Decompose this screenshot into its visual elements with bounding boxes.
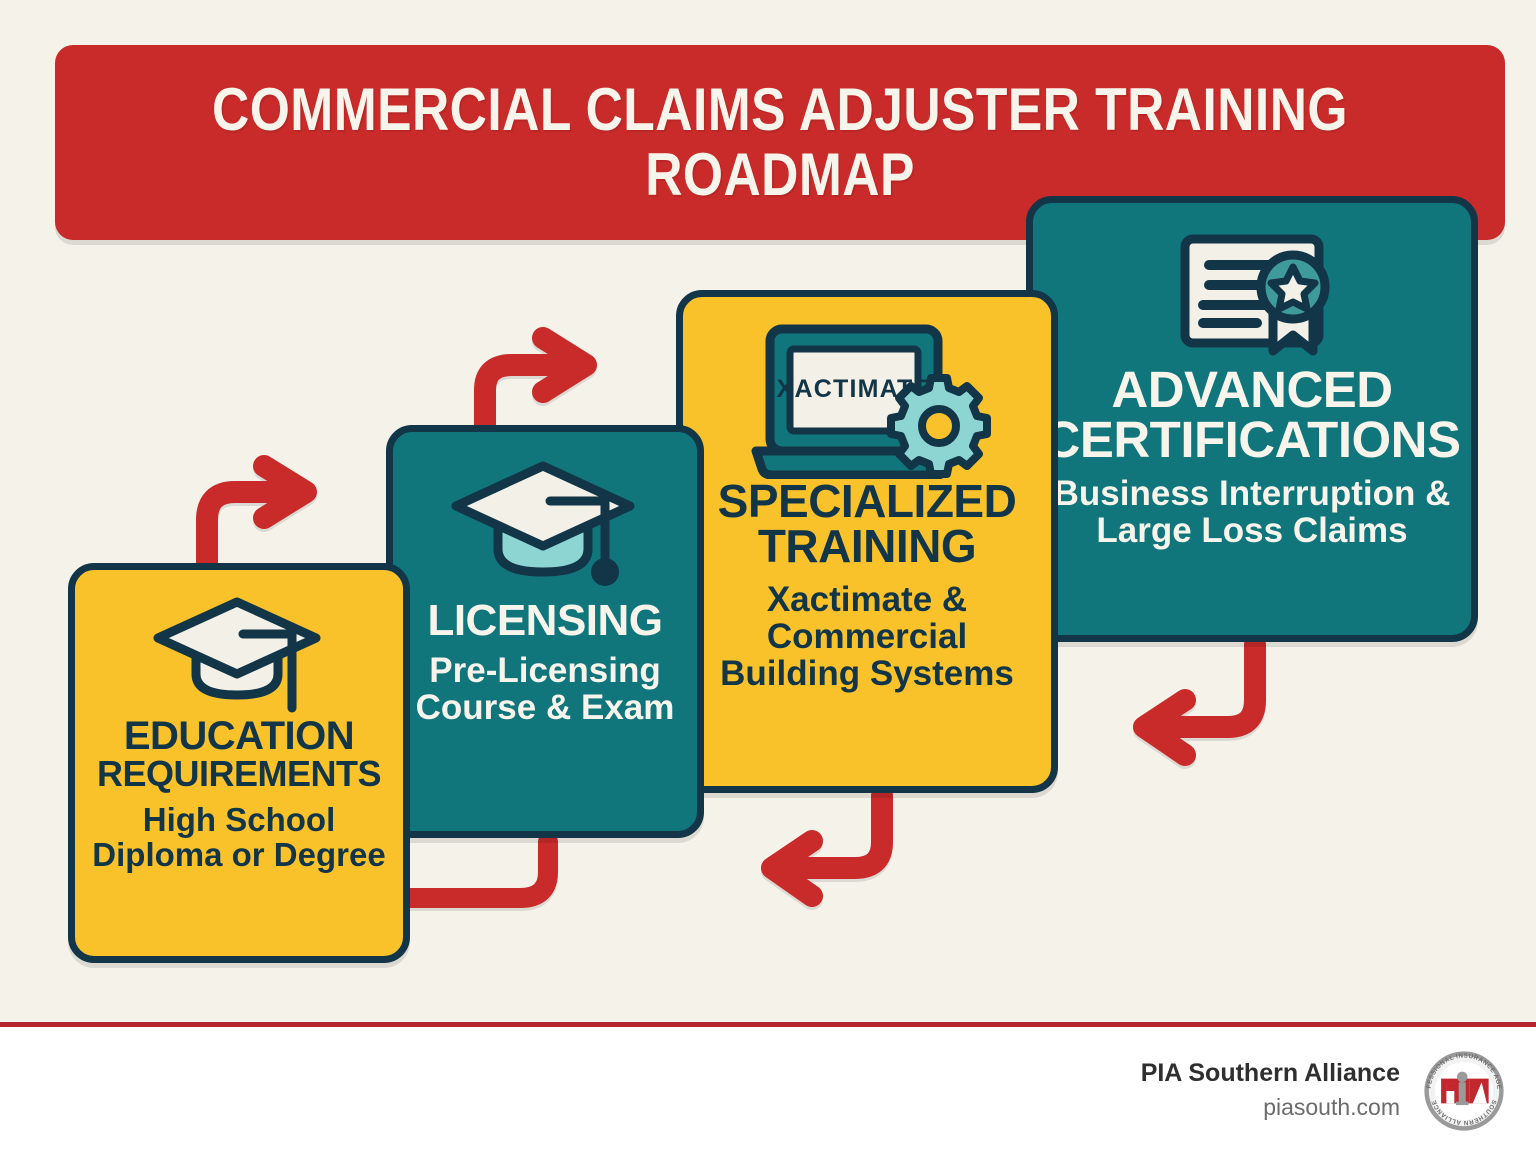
step-title-line-1: LICENSING (427, 599, 662, 642)
step-card-education-requirements[interactable]: EDUCATION REQUIREMENTS High School Diplo… (68, 563, 410, 963)
connector-licensing-to-education (392, 842, 548, 898)
step-title-line-1: EDUCATION (97, 717, 381, 756)
step-title-line-2: CERTIFICATIONS (1043, 415, 1460, 465)
step-card-subtitle: High School Diploma or Degree (89, 803, 389, 873)
step-title-line-2: TRAINING (718, 524, 1017, 569)
step-card-licensing[interactable]: LICENSING Pre-Licensing Course & Exam (386, 425, 704, 838)
arrow-specialized-down-left (772, 796, 882, 896)
footer-text-block: PIA Southern Alliance piasouth.com (1141, 1058, 1400, 1122)
certificate-award-icon (1157, 225, 1347, 365)
step-card-subtitle: Business Interruption & Large Loss Claim… (1047, 475, 1457, 549)
arrow-education-to-licensing (207, 466, 306, 578)
infographic-canvas: COMMERCIAL CLAIMS ADJUSTER TRAINING ROAD… (0, 0, 1536, 1154)
footer-url[interactable]: piasouth.com (1141, 1093, 1400, 1123)
step-card-advanced-certifications[interactable]: ADVANCED CERTIFICATIONS Business Interru… (1026, 196, 1478, 642)
step-card-title: SPECIALIZED TRAINING (718, 479, 1017, 569)
step-title-line-2: REQUIREMENTS (97, 756, 381, 791)
laptop-gear-icon: XACTIMATE (742, 319, 992, 479)
footer-organization: PIA Southern Alliance (1141, 1058, 1400, 1089)
footer: PIA Southern Alliance piasouth.com PROFE… (0, 1027, 1536, 1154)
step-card-title: ADVANCED CERTIFICATIONS (1043, 365, 1460, 465)
step-card-subtitle: Xactimate & Commercial Building Systems (697, 581, 1037, 692)
step-card-title: EDUCATION REQUIREMENTS (97, 717, 381, 791)
graduation-cap-icon (144, 592, 334, 717)
step-card-title: LICENSING (427, 599, 662, 642)
arrow-advanced-down-left (1144, 645, 1255, 755)
step-title-line-1: ADVANCED (1043, 365, 1460, 415)
step-card-specialized-training[interactable]: XACTIMATE SPECIALIZED TRAINING Xactimate… (676, 290, 1058, 793)
step-title-line-1: SPECIALIZED (718, 479, 1017, 524)
graduation-cap-icon (440, 454, 650, 599)
step-card-subtitle: Pre-Licensing Course & Exam (407, 652, 683, 726)
pia-southern-alliance-logo: PROFESSIONAL INSURANCE AGENTS SOUTHERN A… (1420, 1047, 1508, 1135)
